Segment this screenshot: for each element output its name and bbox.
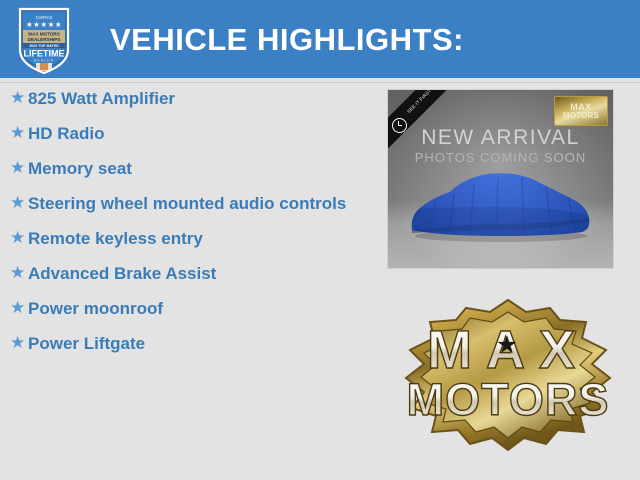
highlight-label: HD Radio (28, 123, 105, 144)
highlight-label: 825 Watt Amplifier (28, 88, 175, 109)
highlight-label: Steering wheel mounted audio controls (28, 193, 346, 214)
list-item: ★ Power Liftgate (0, 333, 380, 354)
clock-icon (392, 118, 407, 133)
badge-line2: DEALERSHIPS (28, 37, 61, 42)
vehicle-photo-placeholder[interactable]: NEW ARRIVAL PHOTOS COMING SOON SEE IT FI… (388, 90, 613, 268)
logo-motors-text: MOTORS (407, 374, 610, 425)
badge-line1: MAX MOTORS (28, 32, 60, 37)
photos-coming-soon-subhead: PHOTOS COMING SOON (388, 150, 613, 165)
header-divider (0, 78, 640, 83)
highlight-label: Memory seat (28, 158, 132, 179)
highlight-label: Remote keyless entry (28, 228, 203, 249)
star-bullet-icon: ★ (10, 88, 28, 108)
list-item: ★ Advanced Brake Assist (0, 263, 380, 284)
star-bullet-icon: ★ (10, 193, 28, 213)
badge-stars: ★★★★★ (26, 20, 62, 29)
list-item: ★ Remote keyless entry (0, 228, 380, 249)
badge-icon: CARFAX ★★★★★ MAX MOTORS DEALERSHIPS 2023… (16, 6, 72, 76)
star-bullet-icon: ★ (10, 158, 28, 178)
highlight-label: Power moonroof (28, 298, 163, 319)
carfax-lifetime-dealer-badge: CARFAX ★★★★★ MAX MOTORS DEALERSHIPS 2023… (16, 6, 72, 76)
vehicle-highlights-list: ★ 825 Watt Amplifier ★ HD Radio ★ Memory… (0, 88, 380, 368)
star-bullet-icon: ★ (10, 228, 28, 248)
badge-line3: 2023 TOP-RATED (29, 44, 59, 48)
badge-line5: DEALER (34, 59, 54, 63)
logo-max-text: MAX ★ (427, 320, 589, 380)
list-item: ★ Steering wheel mounted audio controls (0, 193, 380, 214)
logo-star-icon: ★ (497, 332, 517, 357)
photo-watermark-logo: MAX MOTORS (554, 96, 608, 126)
star-bullet-icon: ★ (10, 263, 28, 283)
list-item: ★ Power moonroof (0, 298, 380, 319)
page-title: VEHICLE HIGHLIGHTS: (110, 22, 464, 58)
max-motors-plaque-icon: MAX ★ MOTORS (400, 296, 616, 456)
star-bullet-icon: ★ (10, 298, 28, 318)
list-item: ★ HD Radio (0, 123, 380, 144)
star-bullet-icon: ★ (10, 123, 28, 143)
badge-line4: LIFETIME (24, 49, 65, 59)
list-item: ★ Memory seat (0, 158, 380, 179)
list-item: ★ 825 Watt Amplifier (0, 88, 380, 109)
new-arrival-headline: NEW ARRIVAL (388, 126, 613, 150)
max-motors-logo: MAX ★ MOTORS (400, 296, 616, 456)
highlight-label: Advanced Brake Assist (28, 263, 216, 284)
highlight-label: Power Liftgate (28, 333, 145, 354)
watermark-line2: MOTORS (563, 112, 599, 120)
star-bullet-icon: ★ (10, 333, 28, 353)
